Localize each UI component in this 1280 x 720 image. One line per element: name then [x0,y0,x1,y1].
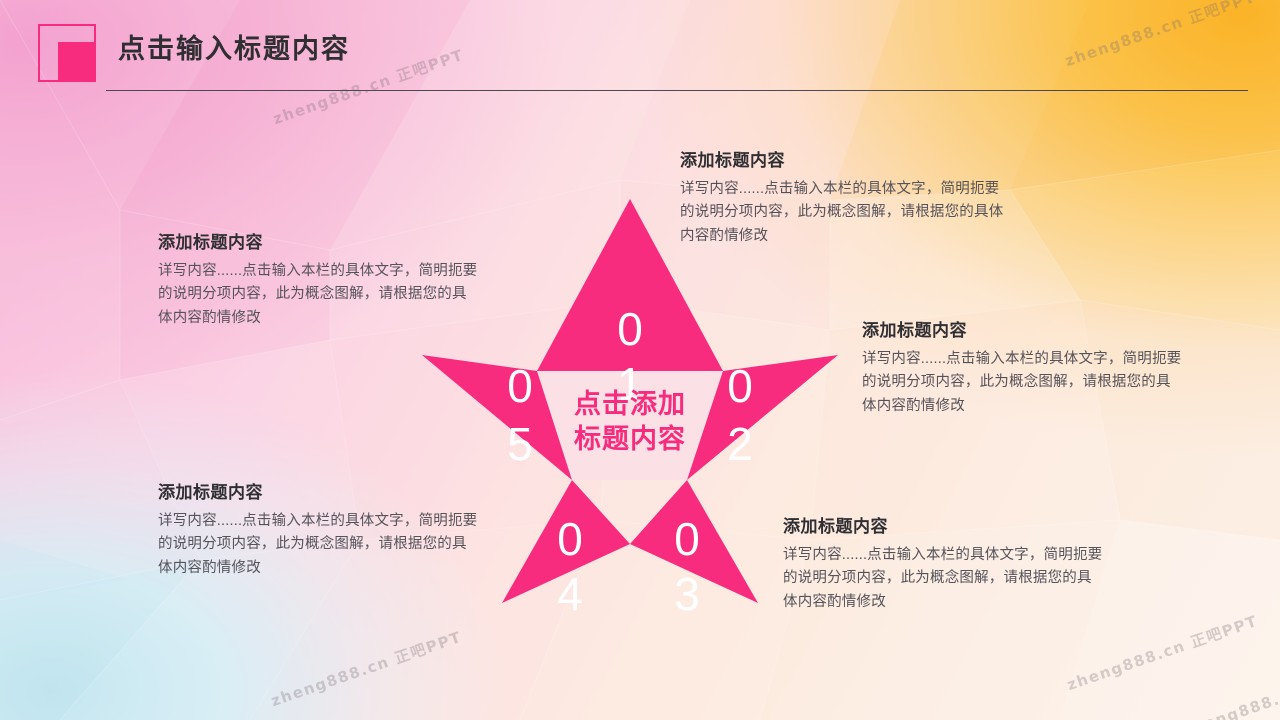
text-block-05-title: 添加标题内容 [158,228,478,253]
text-block-03[interactable]: 添加标题内容 详写内容......点击输入本栏的具体文字，简明扼要的说明分项内容… [783,512,1103,614]
text-block-01-body: 详写内容......点击输入本栏的具体文字，简明扼要的说明分项内容，此为概念图解… [680,178,1008,248]
star-number-05-inner: 5 [507,418,533,470]
text-block-04[interactable]: 添加标题内容 详写内容......点击输入本栏的具体文字，简明扼要的说明分项内容… [158,478,478,580]
star-number-04-inner: 4 [557,568,583,620]
text-block-02-body: 详写内容......点击输入本栏的具体文字，简明扼要的说明分项内容，此为概念图解… [862,348,1182,418]
text-block-05-body: 详写内容......点击输入本栏的具体文字，简明扼要的说明分项内容，此为概念图解… [158,260,478,330]
star-number-05-outer: 0 [507,360,533,412]
text-block-01[interactable]: 添加标题内容 详写内容......点击输入本栏的具体文字，简明扼要的说明分项内容… [680,146,1008,248]
slide-canvas: zheng888.cn 正吧PPT zheng888.cn 正吧PPT zhen… [0,0,1280,720]
star-number-03-outer: 0 [674,513,700,565]
logo-solid-square-icon [58,42,96,80]
header-divider [106,90,1248,91]
text-block-02[interactable]: 添加标题内容 详写内容......点击输入本栏的具体文字，简明扼要的说明分项内容… [862,316,1182,418]
star-number-04-outer: 0 [557,513,583,565]
text-block-04-title: 添加标题内容 [158,478,478,503]
star-center-label-line2[interactable]: 标题内容 [574,423,686,454]
star-number-02-inner: 2 [727,418,753,470]
text-block-03-title: 添加标题内容 [783,512,1103,537]
star-number-03-inner: 3 [674,568,700,620]
text-block-01-title: 添加标题内容 [680,146,1008,171]
page-title: 点击输入标题内容 [118,27,350,66]
star-center-label-line1[interactable]: 点击添加 [574,389,686,419]
text-block-04-body: 详写内容......点击输入本栏的具体文字，简明扼要的说明分项内容，此为概念图解… [158,510,478,580]
star-number-01-outer: 0 [617,303,643,355]
text-block-02-title: 添加标题内容 [862,316,1182,341]
text-block-05[interactable]: 添加标题内容 详写内容......点击输入本栏的具体文字，简明扼要的说明分项内容… [158,228,478,330]
star-number-02-outer: 0 [727,360,753,412]
text-block-03-body: 详写内容......点击输入本栏的具体文字，简明扼要的说明分项内容，此为概念图解… [783,544,1103,614]
